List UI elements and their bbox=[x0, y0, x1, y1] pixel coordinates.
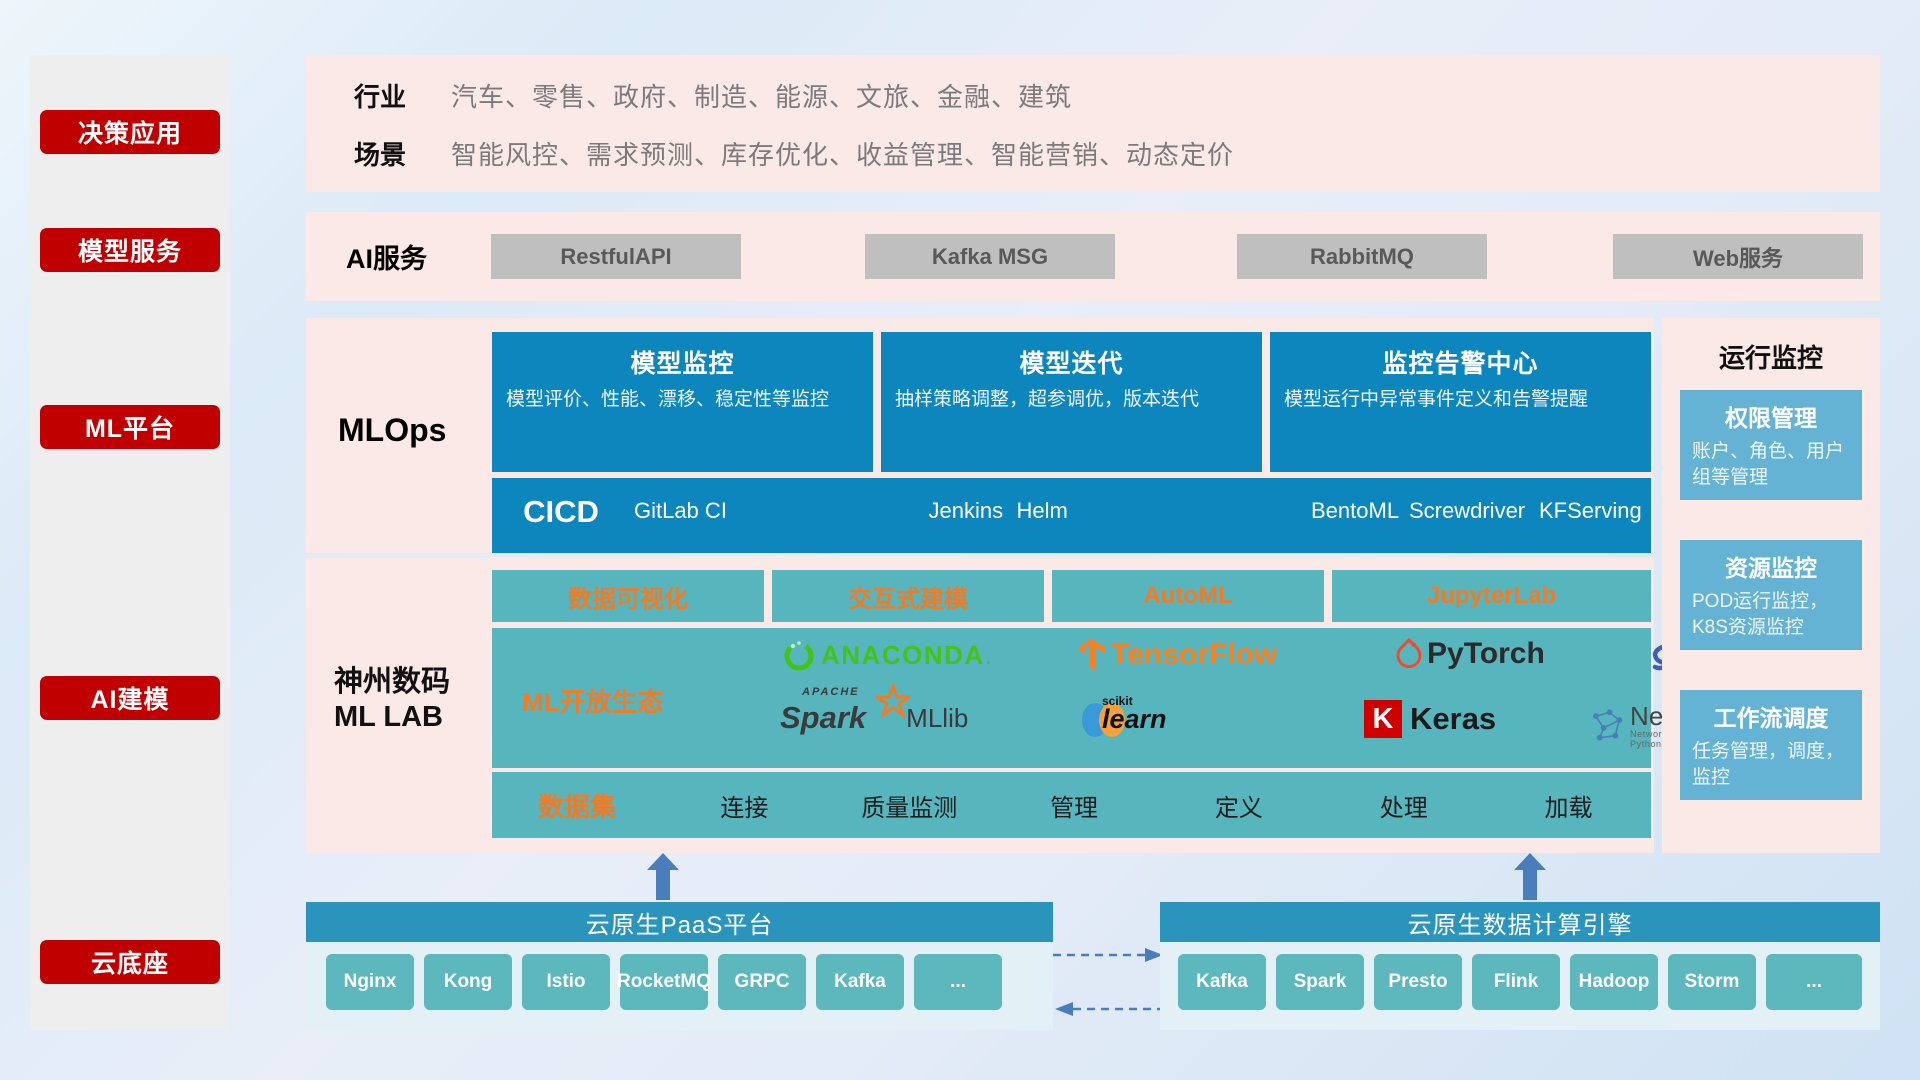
tab-label: 交互式建模 bbox=[848, 579, 968, 614]
mlops-card-model-monitoring[interactable]: 模型监控 模型评价、性能、漂移、稳定性等监控 bbox=[492, 332, 873, 472]
up-arrow-data-engine-icon bbox=[1512, 853, 1548, 900]
monitor-card-permission[interactable]: 权限管理 账户、角色、用户组等管理 bbox=[1680, 390, 1862, 500]
architecture-diagram: 决策应用 模型服务 ML平台 AI建模 云底座 行业 汽车、零售、政府、制造、能… bbox=[0, 0, 1920, 1080]
chip-label: Web服务 bbox=[1693, 241, 1783, 273]
dataset-row: 数据集 连接 质量监测 管理 定义 处理 加载 bbox=[492, 772, 1651, 838]
rail-chip-model-service[interactable]: 模型服务 bbox=[40, 228, 220, 272]
mlops-card-alert-center[interactable]: 监控告警中心 模型运行中异常事件定义和告警提醒 bbox=[1270, 332, 1651, 472]
dataset-item-quality-monitoring[interactable]: 质量监测 bbox=[827, 788, 992, 823]
cicd-item-bentoml[interactable]: BentoML bbox=[1307, 478, 1405, 523]
cloud-head-data-engine: 云原生数据计算引擎 bbox=[1160, 902, 1880, 942]
ai-service-chip-kafka-msg[interactable]: Kafka MSG bbox=[865, 234, 1115, 279]
cloud-chip-kafka[interactable]: Kafka bbox=[816, 954, 904, 1010]
tensorflow-wordmark: TensorFlow bbox=[1111, 638, 1277, 672]
keras-logo: K Keras bbox=[1364, 700, 1496, 738]
ml-lab-tab-jupyterlab[interactable]: JupyterLab bbox=[1332, 570, 1651, 622]
cloud-chip-kafka[interactable]: Kafka bbox=[1178, 954, 1266, 1010]
ml-lab-tab-interactive-modeling[interactable]: 交互式建模 bbox=[772, 570, 1044, 622]
pytorch-logo: PyTorch bbox=[1395, 637, 1545, 671]
ml-lab-label: 神州数码 ML LAB bbox=[334, 665, 450, 736]
card-title: 模型监控 bbox=[492, 332, 873, 380]
dashed-arrow-right-icon bbox=[1053, 946, 1165, 964]
scenario-value: 智能风控、需求预测、库存优化、收益管理、智能营销、动态定价 bbox=[451, 135, 1234, 172]
card-body: 抽样策略调整，超参调优，版本迭代 bbox=[881, 380, 1262, 413]
cicd-item-screwdriver[interactable]: Screwdriver bbox=[1405, 478, 1535, 523]
tab-label: 数据可视化 bbox=[568, 579, 688, 614]
ml-lab-tab-automl[interactable]: AutoML bbox=[1052, 570, 1324, 622]
pytorch-icon bbox=[1395, 637, 1423, 671]
left-rail bbox=[30, 55, 230, 1030]
anaconda-logo: ANACONDA . bbox=[782, 638, 992, 672]
cloud-chip-rocketmq[interactable]: RocketMQ bbox=[620, 954, 708, 1010]
cloud-group-data-engine: 云原生数据计算引擎 Kafka Spark Presto Flink Hadoo… bbox=[1160, 902, 1880, 1030]
cloud-chip-grpc[interactable]: GRPC bbox=[718, 954, 806, 1010]
card-title: 权限管理 bbox=[1680, 390, 1862, 433]
dataset-head: 数据集 bbox=[492, 787, 662, 824]
mllib-wordmark: MLlib bbox=[906, 703, 968, 734]
dataset-item-define[interactable]: 定义 bbox=[1156, 788, 1321, 823]
industry-value: 汽车、零售、政府、制造、能源、文旅、金融、建筑 bbox=[451, 77, 1072, 114]
card-body: 模型运行中异常事件定义和告警提醒 bbox=[1270, 380, 1651, 413]
spark-wordmark: Spark bbox=[780, 700, 866, 735]
industry-scenario-panel: 行业 汽车、零售、政府、制造、能源、文旅、金融、建筑 场景 智能风控、需求预测、… bbox=[306, 55, 1880, 192]
cloud-chip-presto[interactable]: Presto bbox=[1374, 954, 1462, 1010]
rail-chip-label: 云底座 bbox=[91, 944, 169, 980]
mlops-panel: MLOps 模型监控 模型评价、性能、漂移、稳定性等监控 模型迭代 抽样策略调整… bbox=[306, 318, 1654, 553]
keras-icon: K bbox=[1364, 700, 1402, 738]
cloud-chip-spark[interactable]: Spark bbox=[1276, 954, 1364, 1010]
cloud-chip-flink[interactable]: Flink bbox=[1472, 954, 1560, 1010]
ai-service-chip-restfulapi[interactable]: RestfulAPI bbox=[491, 234, 741, 279]
tensorflow-logo: TensorFlow bbox=[1076, 637, 1277, 673]
rail-chip-label: ML平台 bbox=[85, 409, 175, 445]
card-body: 任务管理，调度，监控 bbox=[1680, 733, 1862, 790]
run-monitor-panel: 运行监控 权限管理 账户、角色、用户组等管理 资源监控 POD运行监控，K8S资… bbox=[1662, 318, 1880, 853]
rail-chip-label: 模型服务 bbox=[78, 232, 182, 268]
cicd-item-kfserving[interactable]: KFServing bbox=[1535, 478, 1651, 523]
cloud-chip-nginx[interactable]: Nginx bbox=[326, 954, 414, 1010]
ai-service-chip-rabbitmq[interactable]: RabbitMQ bbox=[1237, 234, 1487, 279]
spark-star-icon bbox=[876, 684, 910, 718]
tab-label: AutoML bbox=[1143, 582, 1232, 610]
card-title: 模型迭代 bbox=[881, 332, 1262, 380]
ml-open-ecosystem-label: ML开放生态 bbox=[522, 682, 664, 719]
up-arrow-paas-icon bbox=[645, 853, 681, 900]
learn-wordmark: learn bbox=[1102, 704, 1167, 735]
rail-chip-decision-app[interactable]: 决策应用 bbox=[40, 110, 220, 154]
ml-open-ecosystem-box: ML开放生态 ANACONDA . TensorFlow bbox=[492, 628, 1651, 768]
cicd-bar: CICD GitLab CI Jenkins Helm BentoML Scre… bbox=[492, 478, 1651, 553]
cloud-group-paas: 云原生PaaS平台 Nginx Kong Istio RocketMQ GRPC… bbox=[306, 902, 1053, 1030]
card-title: 监控告警中心 bbox=[1270, 332, 1651, 380]
cloud-chip-storm[interactable]: Storm bbox=[1668, 954, 1756, 1010]
cloud-chip-more[interactable]: ... bbox=[1766, 954, 1862, 1010]
rail-chip-cloud-base[interactable]: 云底座 bbox=[40, 940, 220, 984]
chip-label: Kafka MSG bbox=[932, 244, 1048, 270]
dataset-item-process[interactable]: 处理 bbox=[1321, 788, 1486, 823]
anaconda-icon bbox=[782, 638, 816, 672]
mlops-label: MLOps bbox=[338, 406, 446, 454]
dataset-item-manage[interactable]: 管理 bbox=[992, 788, 1157, 823]
keras-wordmark: Keras bbox=[1410, 701, 1496, 737]
card-title: 资源监控 bbox=[1680, 540, 1862, 583]
rail-chip-label: 决策应用 bbox=[78, 114, 182, 150]
cicd-item-jenkins[interactable]: Jenkins bbox=[925, 478, 1013, 523]
dataset-item-connect[interactable]: 连接 bbox=[662, 788, 827, 823]
apache-spark-logo: APACHE Spark MLlib bbox=[780, 700, 968, 736]
mlops-card-model-iteration[interactable]: 模型迭代 抽样策略调整，超参调优，版本迭代 bbox=[881, 332, 1262, 472]
spark-apache-text: APACHE bbox=[802, 686, 860, 698]
industry-key: 行业 bbox=[354, 77, 406, 114]
cicd-item-gitlab-ci[interactable]: GitLab CI bbox=[630, 478, 925, 523]
cloud-head-paas: 云原生PaaS平台 bbox=[306, 902, 1053, 942]
ai-service-label: AI服务 bbox=[346, 232, 427, 280]
monitor-card-workflow[interactable]: 工作流调度 任务管理，调度，监控 bbox=[1680, 690, 1862, 800]
rail-chip-label: AI建模 bbox=[90, 680, 169, 716]
cicd-item-helm[interactable]: Helm bbox=[1013, 478, 1308, 523]
run-monitor-title: 运行监控 bbox=[1662, 338, 1880, 375]
cloud-chip-kong[interactable]: Kong bbox=[424, 954, 512, 1010]
networkx-icon bbox=[1588, 706, 1627, 744]
dataset-item-load[interactable]: 加载 bbox=[1486, 788, 1651, 823]
cloud-chip-istio[interactable]: Istio bbox=[522, 954, 610, 1010]
tab-label: JupyterLab bbox=[1427, 582, 1556, 610]
pytorch-wordmark: PyTorch bbox=[1427, 637, 1545, 671]
chip-label: RestfulAPI bbox=[560, 244, 671, 270]
ml-lab-label-line2: ML LAB bbox=[334, 700, 450, 735]
anaconda-wordmark: ANACONDA bbox=[821, 640, 985, 671]
card-body: 账户、角色、用户组等管理 bbox=[1680, 433, 1862, 490]
dashed-arrow-left-icon bbox=[1053, 1000, 1165, 1018]
ai-service-panel: AI服务 RestfulAPI Kafka MSG RabbitMQ Web服务 bbox=[306, 212, 1880, 301]
rail-chip-ml-platform[interactable]: ML平台 bbox=[40, 405, 220, 449]
rail-chip-ai-modeling[interactable]: AI建模 bbox=[40, 676, 220, 720]
cloud-chip-hadoop[interactable]: Hadoop bbox=[1570, 954, 1658, 1010]
cloud-chip-more[interactable]: ... bbox=[914, 954, 1002, 1010]
scenario-key: 场景 bbox=[354, 135, 406, 172]
monitor-card-resource[interactable]: 资源监控 POD运行监控，K8S资源监控 bbox=[1680, 540, 1862, 650]
ml-lab-panel: 神州数码 ML LAB 数据可视化 交互式建模 AutoML JupyterLa… bbox=[306, 558, 1654, 853]
ml-lab-label-line1: 神州数码 bbox=[334, 665, 450, 700]
card-body: 模型评价、性能、漂移、稳定性等监控 bbox=[492, 380, 873, 413]
ml-lab-tab-data-visualization[interactable]: 数据可视化 bbox=[492, 570, 764, 622]
scikit-learn-logo: scikit learn bbox=[1080, 696, 1126, 740]
card-title: 工作流调度 bbox=[1680, 690, 1862, 733]
ai-service-chip-web-service[interactable]: Web服务 bbox=[1613, 234, 1863, 279]
cicd-title: CICD bbox=[492, 478, 630, 530]
tensorflow-icon bbox=[1076, 637, 1106, 673]
card-body: POD运行监控，K8S资源监控 bbox=[1680, 583, 1862, 640]
chip-label: RabbitMQ bbox=[1310, 244, 1414, 270]
